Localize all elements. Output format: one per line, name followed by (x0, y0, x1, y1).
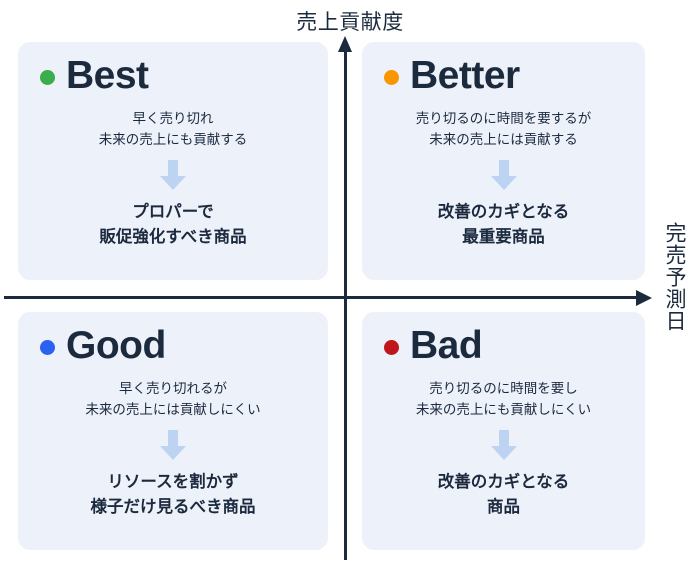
quadrant-card-better: Better 売り切るのに時間を要するが 未来の売上には貢献する 改善のカギとな… (362, 42, 645, 280)
conclusion-line-2: 商品 (362, 495, 645, 520)
arrow-down-wrapper-good (18, 430, 328, 460)
arrow-down-wrapper-bad (362, 430, 645, 460)
conclusion-line-2: 最重要商品 (362, 225, 645, 250)
quadrant-card-good: Good 早く売り切れるが 未来の売上には貢献しにくい リソースを割かず 様子だ… (18, 312, 328, 550)
x-axis-arrowhead-icon (636, 290, 652, 306)
arrow-down-icon (491, 160, 517, 190)
arrow-down-wrapper-better (362, 160, 645, 190)
bullet-dot-icon (40, 70, 55, 85)
conclusion-line-1: 改善のカギとなる (362, 470, 645, 495)
quadrant-card-best: Best 早く売り切れ 未来の売上にも貢献する プロパーで 販促強化すべき商品 (18, 42, 328, 280)
bullet-dot-icon (40, 340, 55, 355)
conclusion-line-2: 様子だけ見るべき商品 (18, 495, 328, 520)
quadrant-description-better: 売り切るのに時間を要するが 未来の売上には貢献する (362, 109, 645, 151)
description-line-1: 早く売り切れるが (18, 379, 328, 400)
quadrant-title-better: Better (410, 56, 520, 95)
quadrant-description-good: 早く売り切れるが 未来の売上には貢献しにくい (18, 379, 328, 421)
quadrant-title-bad: Bad (410, 326, 482, 365)
quadrant-conclusion-best: プロパーで 販促強化すべき商品 (18, 200, 328, 250)
conclusion-line-2: 販促強化すべき商品 (18, 225, 328, 250)
conclusion-line-1: リソースを割かず (18, 470, 328, 495)
quadrant-title-best: Best (66, 56, 149, 95)
description-line-1: 売り切るのに時間を要するが (362, 109, 645, 130)
sales-contribution-matrix: 売上貢献度 完売予測日 Best 早く売り切れ 未来の売上にも貢献する プロパー… (0, 0, 700, 568)
description-line-2: 未来の売上にも貢献しにくい (362, 400, 645, 421)
bullet-dot-icon (384, 340, 399, 355)
arrow-down-icon (160, 430, 186, 460)
description-line-2: 未来の売上には貢献する (362, 130, 645, 151)
quadrant-conclusion-good: リソースを割かず 様子だけ見るべき商品 (18, 470, 328, 520)
quadrant-conclusion-bad: 改善のカギとなる 商品 (362, 470, 645, 520)
description-line-1: 早く売り切れ (18, 109, 328, 130)
quadrant-card-bad: Bad 売り切るのに時間を要し 未来の売上にも貢献しにくい 改善のカギとなる 商… (362, 312, 645, 550)
conclusion-line-1: プロパーで (18, 200, 328, 225)
quadrant-description-bad: 売り切るのに時間を要し 未来の売上にも貢献しにくい (362, 379, 645, 421)
y-axis-label: 売上貢献度 (0, 6, 700, 36)
arrow-down-icon (160, 160, 186, 190)
quadrant-conclusion-better: 改善のカギとなる 最重要商品 (362, 200, 645, 250)
description-line-2: 未来の売上にも貢献する (18, 130, 328, 151)
description-line-2: 未来の売上には貢献しにくい (18, 400, 328, 421)
quadrant-description-best: 早く売り切れ 未来の売上にも貢献する (18, 109, 328, 151)
quadrant-title-good: Good (66, 326, 166, 365)
arrow-down-icon (491, 430, 517, 460)
y-axis-arrowhead-icon (338, 36, 352, 52)
x-axis-label: 完売予測日 (655, 222, 685, 332)
quadrant-header-best: Best (40, 56, 328, 95)
y-axis-line (344, 48, 347, 560)
x-axis-line (4, 296, 642, 299)
quadrant-header-good: Good (40, 326, 328, 365)
quadrant-header-better: Better (384, 56, 645, 95)
conclusion-line-1: 改善のカギとなる (362, 200, 645, 225)
quadrant-header-bad: Bad (384, 326, 645, 365)
description-line-1: 売り切るのに時間を要し (362, 379, 645, 400)
bullet-dot-icon (384, 70, 399, 85)
arrow-down-wrapper-best (18, 160, 328, 190)
